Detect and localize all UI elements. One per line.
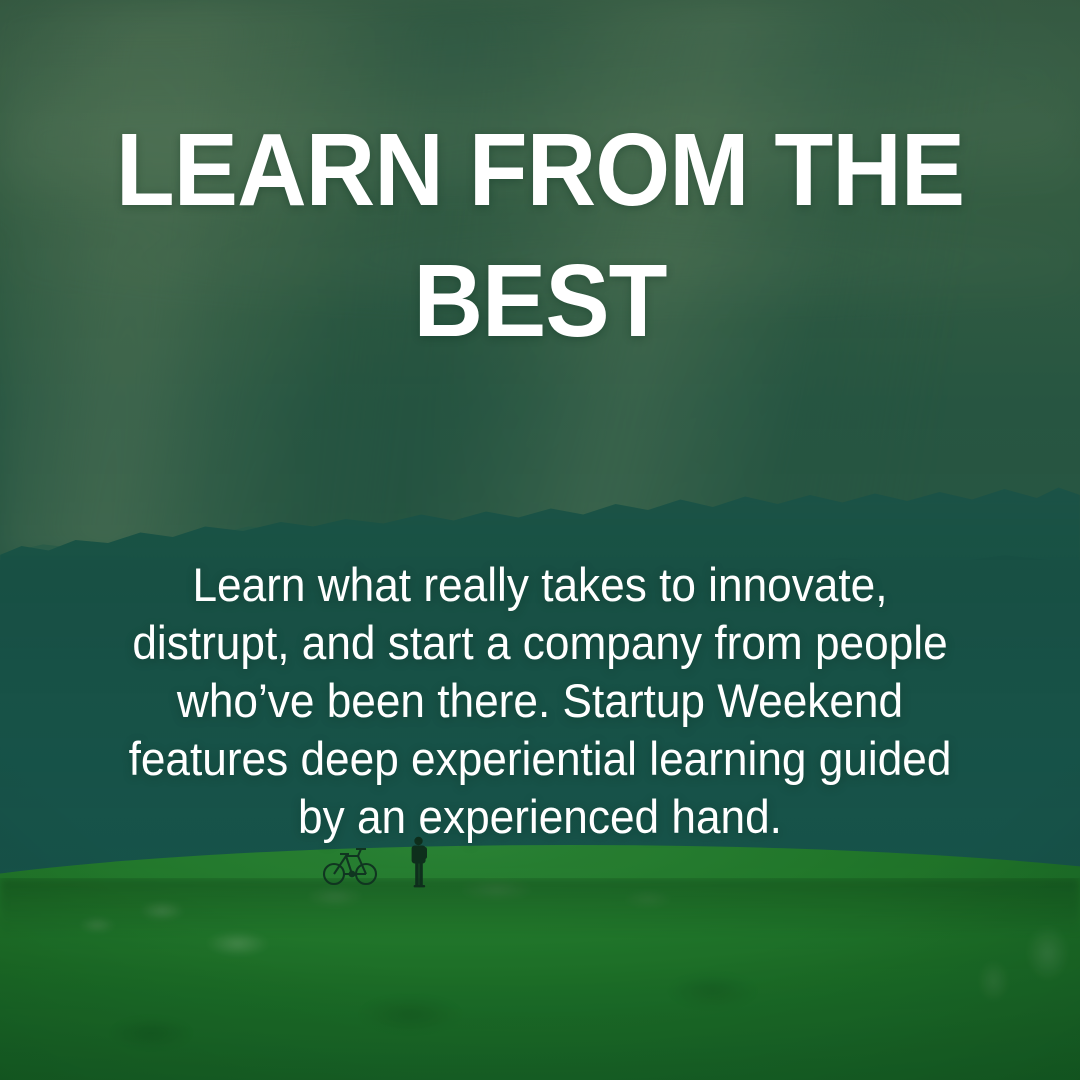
poster-headline: LEARN FROM THE BEST — [91, 104, 989, 366]
poster-content: LEARN FROM THE BEST Learn what really ta… — [0, 0, 1080, 1080]
poster-body-text: Learn what really takes to innovate, dis… — [117, 556, 963, 846]
social-post-card: LEARN FROM THE BEST Learn what really ta… — [0, 0, 1080, 1080]
